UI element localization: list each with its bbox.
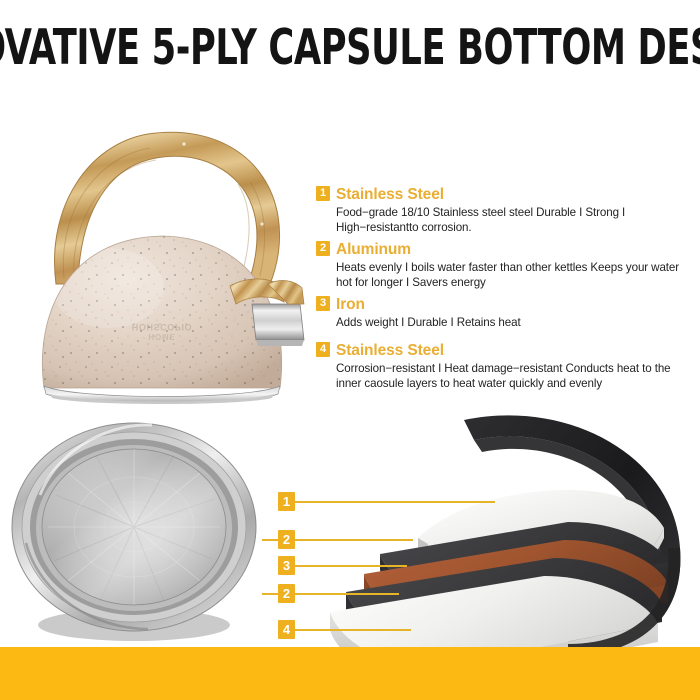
- callout-line-2-upper-left: [262, 539, 278, 541]
- feature-body-1: Food−grade 18/10 Stainless steel steel D…: [336, 206, 688, 235]
- page-title: INNOVATIVE 5-PLY CAPSULE BOTTOM DESLGN: [0, 18, 700, 76]
- callout-badge-3: 3: [278, 556, 295, 575]
- callout-line-4: [295, 629, 411, 631]
- feature-title-3: Iron: [336, 296, 365, 313]
- feature-heading-3: 3 Iron: [316, 296, 688, 315]
- callout-line-2-upper: [295, 539, 413, 541]
- callout-3: 3: [278, 556, 407, 575]
- feature-body-2: Heats evenly I boils water faster than o…: [336, 261, 688, 290]
- capsule-base-image: [4, 415, 276, 650]
- callout-badge-1: 1: [278, 492, 295, 511]
- callout-line-3: [295, 565, 407, 567]
- callout-line-2-lower-left: [262, 593, 278, 595]
- callout-2-upper: 2: [262, 530, 413, 549]
- bottom-accent-band: [0, 647, 700, 700]
- feature-item-2: 2 Aluminum Heats evenly I boils water fa…: [316, 241, 688, 290]
- callout-line-2-lower: [295, 593, 399, 595]
- feature-item-4: 4 Stainless Steel Corrosion−resistant I …: [316, 342, 688, 391]
- feature-title-4: Stainless Steel: [336, 342, 444, 359]
- callout-badge-2-lower: 2: [278, 584, 295, 603]
- callout-4: 4: [278, 620, 411, 639]
- page-title-text: INNOVATIVE 5-PLY CAPSULE BOTTOM DESLGN: [0, 23, 700, 72]
- kettle-product-image: HOHSCOPIO HOME: [16, 88, 308, 404]
- callout-badge-4: 4: [278, 620, 295, 639]
- kettle-embossed-logo: HOHSCOPIO: [132, 322, 192, 332]
- feature-heading-4: 4 Stainless Steel: [316, 342, 688, 361]
- feature-heading-2: 2 Aluminum: [316, 241, 688, 260]
- feature-title-2: Aluminum: [336, 241, 411, 258]
- callout-2-lower: 2: [262, 584, 399, 603]
- callout-badge-2-upper: 2: [278, 530, 295, 549]
- feature-badge-2: 2: [316, 241, 330, 256]
- feature-title-1: Stainless Steel: [336, 186, 444, 203]
- infographic-page: INNOVATIVE 5-PLY CAPSULE BOTTOM DESLGN: [0, 0, 700, 700]
- svg-text:HOME: HOME: [148, 332, 175, 341]
- feature-heading-1: 1 Stainless Steel: [316, 186, 688, 205]
- feature-item-1: 1 Stainless Steel Food−grade 18/10 Stain…: [316, 186, 688, 235]
- callout-1: 1: [278, 492, 495, 511]
- feature-body-4: Corrosion−resistant I Heat damage−resist…: [336, 362, 688, 391]
- feature-body-3: Adds weight I Durable I Retains heat: [336, 316, 688, 331]
- callout-line-1: [295, 501, 495, 503]
- feature-badge-3: 3: [316, 296, 330, 311]
- feature-badge-1: 1: [316, 186, 330, 201]
- feature-list: 1 Stainless Steel Food−grade 18/10 Stain…: [316, 186, 688, 397]
- feature-badge-4: 4: [316, 342, 330, 357]
- feature-item-3: 3 Iron Adds weight I Durable I Retains h…: [316, 296, 688, 331]
